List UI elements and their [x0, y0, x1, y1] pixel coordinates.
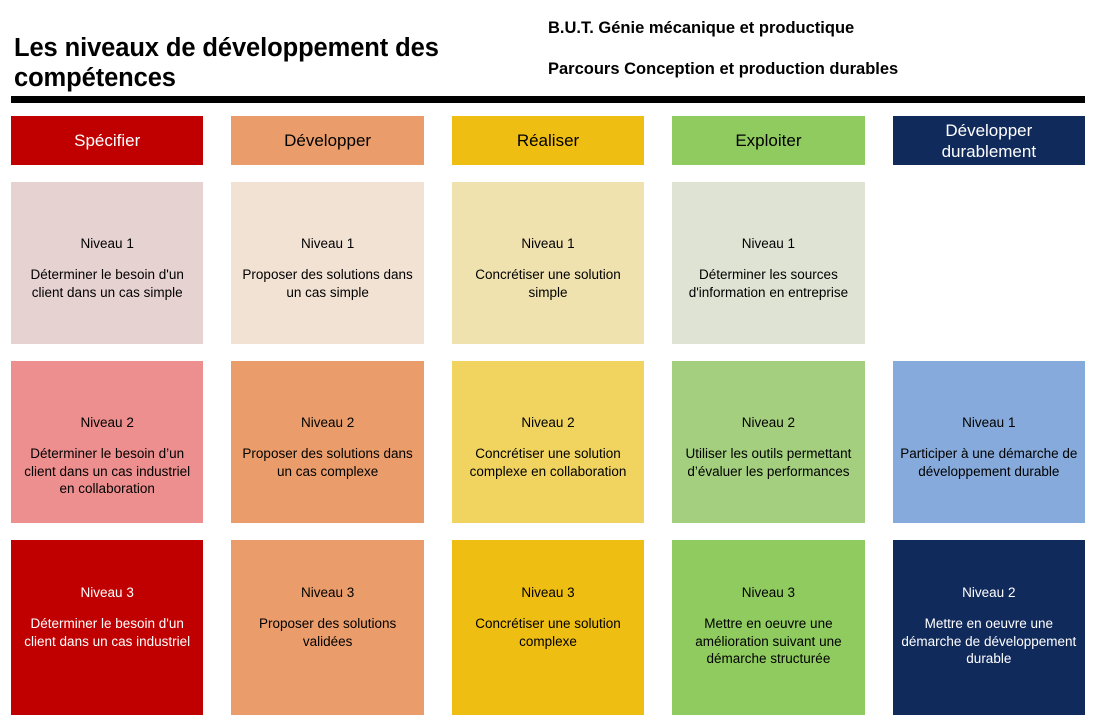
- cell-level-label: Niveau 2: [962, 584, 1015, 601]
- cell-level-label: Niveau 3: [81, 584, 134, 601]
- competency-cell[interactable]: Niveau 1 Concrétiser une solution simple: [452, 182, 644, 344]
- competency-cell-empty: [893, 182, 1085, 344]
- competency-cell[interactable]: Niveau 1 Participer à une démarche de dé…: [893, 361, 1085, 523]
- cell-level-label: Niveau 3: [301, 584, 354, 601]
- column-header-label: Spécifier: [74, 130, 140, 151]
- cell-level-label: Niveau 1: [301, 235, 354, 252]
- column-header-specifier[interactable]: Spécifier: [11, 116, 203, 165]
- competency-header-row: Spécifier Développer Réaliser Exploiter …: [11, 116, 1085, 165]
- column-header-label: Exploiter: [735, 130, 801, 151]
- cell-level-label: Niveau 3: [521, 584, 574, 601]
- column-header-realiser[interactable]: Réaliser: [452, 116, 644, 165]
- column-header-label: Développer: [284, 130, 371, 151]
- cell-description: Déterminer le besoin d'un client dans un…: [17, 615, 197, 650]
- cell-description: Mettre en oeuvre une démarche de dévelop…: [899, 615, 1079, 668]
- cell-description: Mettre en oeuvre une amélioration suivan…: [678, 615, 858, 668]
- cell-description: Déterminer le besoin d’un client dans un…: [17, 445, 197, 498]
- column-header-label: Développer durablement: [897, 120, 1081, 162]
- competency-row-2: Niveau 2 Déterminer le besoin d’un clien…: [11, 361, 1085, 523]
- cell-description: Proposer des solutions dans un cas simpl…: [237, 266, 417, 301]
- competency-cell[interactable]: Niveau 3 Proposer des solutions validées: [231, 540, 423, 715]
- cell-level-label: Niveau 2: [742, 414, 795, 431]
- competency-row-3: Niveau 3 Déterminer le besoin d'un clien…: [11, 540, 1085, 715]
- cell-description: Déterminer les sources d'information en …: [678, 266, 858, 301]
- competency-levels-slide: Les niveaux de développement des compéte…: [0, 0, 1096, 722]
- cell-level-label: Niveau 1: [521, 235, 574, 252]
- competency-cell[interactable]: Niveau 3 Mettre en oeuvre une améliorati…: [672, 540, 864, 715]
- column-header-developper-durablement[interactable]: Développer durablement: [893, 116, 1085, 165]
- cell-description: Concrétiser une solution complexe: [458, 615, 638, 650]
- cell-level-label: Niveau 1: [742, 235, 795, 252]
- competency-cell[interactable]: Niveau 2 Mettre en oeuvre une démarche d…: [893, 540, 1085, 715]
- subtitle-line-degree: B.U.T. Génie mécanique et productique: [548, 18, 1068, 39]
- competency-cell[interactable]: Niveau 1 Déterminer les sources d'inform…: [672, 182, 864, 344]
- competency-cell[interactable]: Niveau 1 Proposer des solutions dans un …: [231, 182, 423, 344]
- column-header-developper[interactable]: Développer: [231, 116, 423, 165]
- subtitle-line-track: Parcours Conception et production durabl…: [548, 59, 1068, 80]
- competency-cell[interactable]: Niveau 2 Proposer des solutions dans un …: [231, 361, 423, 523]
- cell-description: Concrétiser une solution simple: [458, 266, 638, 301]
- page-title: Les niveaux de développement des compéte…: [14, 33, 514, 93]
- cell-level-label: Niveau 3: [742, 584, 795, 601]
- cell-level-label: Niveau 1: [962, 414, 1015, 431]
- cell-level-label: Niveau 2: [81, 414, 134, 431]
- cell-description: Concrétiser une solution complexe en col…: [458, 445, 638, 480]
- competency-row-1: Niveau 1 Déterminer le besoin d'un clien…: [11, 182, 1085, 344]
- cell-description: Utiliser les outils permettant d’évaluer…: [678, 445, 858, 480]
- competency-cell[interactable]: Niveau 3 Déterminer le besoin d'un clien…: [11, 540, 203, 715]
- competency-cell[interactable]: Niveau 1 Déterminer le besoin d'un clien…: [11, 182, 203, 344]
- cell-description: Participer à une démarche de développeme…: [899, 445, 1079, 480]
- competency-cell[interactable]: Niveau 2 Utiliser les outils permettant …: [672, 361, 864, 523]
- competency-cell[interactable]: Niveau 2 Concrétiser une solution comple…: [452, 361, 644, 523]
- competency-cell[interactable]: Niveau 3 Concrétiser une solution comple…: [452, 540, 644, 715]
- cell-description: Proposer des solutions validées: [237, 615, 417, 650]
- competency-grid: Spécifier Développer Réaliser Exploiter …: [11, 116, 1085, 715]
- cell-level-label: Niveau 2: [301, 414, 354, 431]
- cell-level-label: Niveau 2: [521, 414, 574, 431]
- header-divider-bar: [11, 96, 1085, 103]
- cell-description: Déterminer le besoin d'un client dans un…: [17, 266, 197, 301]
- column-header-label: Réaliser: [517, 130, 579, 151]
- column-header-exploiter[interactable]: Exploiter: [672, 116, 864, 165]
- cell-description: Proposer des solutions dans un cas compl…: [237, 445, 417, 480]
- program-subtitle: B.U.T. Génie mécanique et productique Pa…: [548, 18, 1068, 80]
- competency-cell[interactable]: Niveau 2 Déterminer le besoin d’un clien…: [11, 361, 203, 523]
- cell-level-label: Niveau 1: [81, 235, 134, 252]
- slide-header: Les niveaux de développement des compéte…: [0, 0, 1096, 96]
